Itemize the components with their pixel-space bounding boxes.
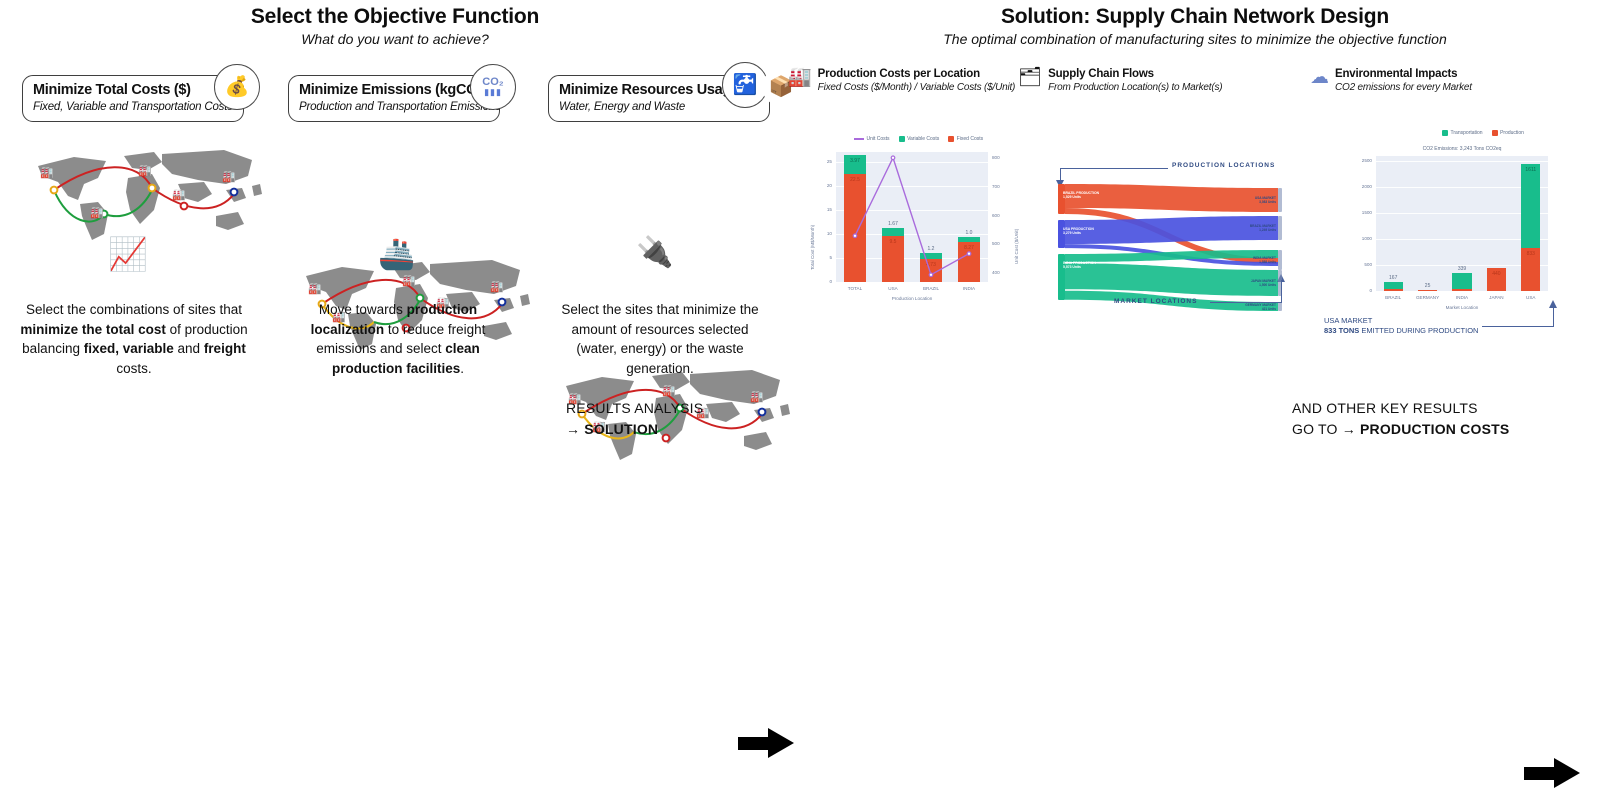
- bar-transportation[interactable]: [1521, 164, 1540, 248]
- bar-label-production: 833: [1521, 251, 1540, 257]
- objective-pill-1[interactable]: Minimize Total Costs ($) Fixed, Variable…: [22, 75, 244, 122]
- results-analysis-callout: RESULTS ANALYSIS → SOLUTION: [566, 398, 703, 440]
- cargo-ship-glyph: 🚢: [378, 238, 415, 271]
- callout-right-line2: GO TO → PRODUCTION COSTS: [1292, 419, 1509, 440]
- sankey-target-label: USA MARKET3,083 Units: [1236, 196, 1276, 204]
- panel-title-3: Environmental Impacts: [1335, 68, 1472, 82]
- world-map-costs: 🏭 🏭 🏭 🏭 🏭: [28, 140, 266, 250]
- chart-legend-3[interactable]: TransportationProduction: [1442, 130, 1524, 136]
- slide-canvas: Select the Objective Function What do yo…: [0, 0, 1600, 450]
- arrow-right-icon-right: [1524, 758, 1580, 788]
- bar-label-transportation: 25: [1418, 283, 1437, 289]
- sankey-leader-line: [1060, 168, 1168, 169]
- y-tick-label-1: 20: [816, 183, 832, 188]
- sankey-leader-line-2: [1281, 280, 1282, 303]
- co2-annotation: USA MARKET833 TONS EMITTED DURING PRODUC…: [1324, 316, 1478, 336]
- panel-header-production-costs: 🏭 Production Costs per Location Fixed Co…: [788, 68, 1015, 94]
- y-tick-label-3: 0: [1354, 288, 1372, 293]
- objective-title-1: Minimize Total Costs ($): [33, 82, 233, 99]
- y2-axis-label-1: Unit Cost ($/Unit): [1014, 229, 1019, 264]
- sankey-target-label: GERMANY MARKET421 Units: [1236, 303, 1276, 311]
- factory-icon-map2-a: 🏭: [308, 284, 322, 295]
- left-section-subtitle: What do you want to achieve?: [0, 31, 790, 47]
- sankey-src-units: 1,529 Units: [1063, 195, 1099, 199]
- bar-label-transportation: 339: [1452, 266, 1471, 272]
- money-boxes-icon: 💰: [214, 64, 260, 110]
- supply-chain-flows-sankey[interactable]: BRAZIL PRODUCTION1,529 UnitsUSA PRODUCTI…: [1020, 150, 1310, 330]
- bar-production[interactable]: [1418, 290, 1437, 291]
- objective-card-total-costs[interactable]: Minimize Total Costs ($) Fixed, Variable…: [22, 75, 244, 122]
- supply-chain-flows-icon: 🗂: [1018, 68, 1042, 87]
- y-axis-label-1: Total Cost (M$/Month): [810, 225, 815, 270]
- para-1-rich: Select the combinations of sites that mi…: [20, 302, 247, 376]
- factory-icon-map1-b: 🏭: [138, 166, 152, 177]
- y-tick-label-1: 5: [816, 255, 832, 260]
- legend-swatch: [899, 136, 905, 142]
- y-tick-label-1: 15: [816, 207, 832, 212]
- panel-subtitle-1: Fixed Costs ($/Month) / Variable Costs (…: [818, 82, 1016, 94]
- y2-tick-label-1: 600: [992, 213, 1000, 218]
- other-key-results-callout: AND OTHER KEY RESULTS GO TO → PRODUCTION…: [1292, 398, 1509, 440]
- sankey-source-label: USA PRODUCTION3,279 Units: [1063, 227, 1094, 236]
- objective-pill-2[interactable]: Minimize Emissions (kgCO2eq) Production …: [288, 75, 500, 122]
- arrow-head-2: [1554, 758, 1580, 788]
- legend-label: Fixed Costs: [957, 136, 983, 142]
- co2-annotation-value: 833 TONS: [1324, 326, 1359, 335]
- bar-label-variable: 1.2: [920, 246, 941, 252]
- factory-icon-map1-a: 🏭: [40, 168, 54, 179]
- factory-icon-map1-c: 🏭: [90, 208, 104, 219]
- sankey-target-node[interactable]: [1278, 216, 1282, 240]
- bar-label-fixed: 22.5: [844, 177, 865, 183]
- legend-label: Transportation: [1451, 130, 1483, 136]
- gridline-3: [1376, 291, 1548, 292]
- x-tick-label-1: TOTAL: [836, 286, 873, 291]
- bar-variable-costs[interactable]: [958, 237, 979, 242]
- money-boxes-glyph: 💰: [225, 77, 250, 97]
- legend-label: Production: [1500, 130, 1524, 136]
- sankey-bottom-label: MARKET LOCATIONS: [1114, 298, 1197, 305]
- panel-header-environmental-impacts: ☁ Environmental Impacts CO2 emissions fo…: [1310, 68, 1472, 94]
- y-tick-label-3: 2000: [1354, 184, 1372, 189]
- para-2-rich: Move towards production localization to …: [311, 302, 486, 376]
- x-tick-label-1: INDIA: [950, 286, 987, 291]
- water-tap-glyph: 🚰: [733, 75, 758, 95]
- bar-label-transportation: 1611: [1521, 167, 1540, 173]
- callout-right-goto: GO TO →: [1292, 421, 1360, 437]
- cost-growth-chart-icon: 📈: [108, 238, 148, 270]
- sankey-source-label: BRAZIL PRODUCTION1,529 Units: [1063, 191, 1099, 200]
- bar-label-production: 440: [1487, 271, 1506, 277]
- factory-icon-map1-e: 🏭: [222, 172, 236, 183]
- right-section-subtitle: The optimal combination of manufacturing…: [800, 31, 1590, 47]
- cost-growth-glyph: 📈: [108, 236, 148, 272]
- panel-header-supply-chain-flows: 🗂 Supply Chain Flows From Production Loc…: [1018, 68, 1222, 94]
- sankey-tgt-units: 1,249 Units: [1236, 228, 1276, 232]
- sankey-leader-line-2: [1210, 302, 1282, 303]
- sankey-source-label: INDIA PRODUCTION5,573 Units: [1063, 261, 1096, 270]
- sankey-tgt-units: 3,083 Units: [1236, 200, 1276, 204]
- sankey-target-node[interactable]: [1278, 250, 1282, 270]
- panel-subtitle-3: CO2 emissions for every Market: [1335, 82, 1472, 94]
- legend-item[interactable]: Unit Costs: [854, 136, 890, 142]
- chart-legend-1[interactable]: Unit CostsVariable CostsFixed Costs: [854, 136, 983, 142]
- legend-swatch: [1442, 130, 1448, 136]
- co2-emissions-chart[interactable]: CO2 Emissions: 3,243 Tons CO2eq050010001…: [1320, 118, 1600, 348]
- cargo-ship-icon: 🚢: [378, 240, 415, 270]
- production-costs-icon: 🏭: [788, 68, 812, 87]
- y2-tick-label-1: 700: [992, 184, 1000, 189]
- bar-label-variable: 1.67: [882, 221, 903, 227]
- y2-tick-label-1: 400: [992, 270, 1000, 275]
- sankey-src-units: 3,279 Units: [1063, 231, 1094, 235]
- bar-transportation[interactable]: [1452, 273, 1471, 289]
- bar-label-variable: 3.97: [844, 158, 865, 164]
- bar-variable-costs[interactable]: [882, 228, 903, 236]
- legend-swatch: [1492, 130, 1498, 136]
- x-tick-label-1: USA: [874, 286, 911, 291]
- left-section-title: Select the Objective Function: [0, 5, 790, 29]
- objective-paragraph-1: Select the combinations of sites that mi…: [14, 300, 254, 378]
- para-3-rich: Select the sites that minimize the amoun…: [561, 302, 758, 376]
- panel-title-2: Supply Chain Flows: [1048, 68, 1222, 82]
- y-tick-label-3: 2500: [1354, 158, 1372, 163]
- sankey-tgt-units: 421 Units: [1236, 307, 1276, 311]
- objective-subtitle-2: Production and Transportation Emissions: [299, 101, 489, 115]
- arrow-head-1: [768, 728, 794, 758]
- legend-swatch: [948, 136, 954, 142]
- co2-leader-line: [1482, 326, 1554, 327]
- bar-label-fixed: 8.27: [958, 245, 979, 251]
- arrow-right-icon-left: [738, 728, 794, 758]
- factory-icon-map3-b: 🏭: [662, 386, 676, 397]
- objective-title-2: Minimize Emissions (kgCO2eq): [299, 82, 489, 99]
- x-tick-label-3: BRAZIL: [1376, 295, 1411, 300]
- objective-subtitle-1: Fixed, Variable and Transportation Costs: [33, 101, 233, 115]
- bar-label-fixed: 4.73: [920, 262, 941, 268]
- bar-label-variable: 1.0: [958, 230, 979, 236]
- objective-paragraph-2: Move towards production localization to …: [288, 300, 508, 378]
- production-costs-chart[interactable]: 051015202540050060070080022.53.97TOTAL9.…: [800, 130, 1030, 320]
- legend-label: Variable Costs: [907, 136, 939, 142]
- bar-production[interactable]: [1452, 289, 1471, 291]
- callout-right-line1: AND OTHER KEY RESULTS: [1292, 398, 1509, 419]
- sankey-tgt-units: 1,500 Units: [1236, 283, 1276, 287]
- arrow-shaft-2: [1524, 767, 1558, 780]
- bar-label-transportation: 167: [1384, 275, 1403, 281]
- x-tick-label-3: INDIA: [1444, 295, 1479, 300]
- x-tick-label-3: JAPAN: [1479, 295, 1514, 300]
- sankey-target-node[interactable]: [1278, 188, 1282, 212]
- co2-drops-icon: ▮▮▮: [484, 88, 502, 97]
- arrow-shaft-1: [738, 737, 772, 750]
- bar-transportation[interactable]: [1384, 282, 1403, 289]
- right-section-title: Solution: Supply Chain Network Design: [800, 5, 1590, 29]
- panel-title-1: Production Costs per Location: [818, 68, 1016, 82]
- factory-icon-map2-b: 🏭: [402, 276, 416, 287]
- bar-variable-costs[interactable]: [920, 253, 941, 259]
- energy-plug-glyph: 🔌: [636, 236, 673, 269]
- co2-chart-title: CO2 Emissions: 3,243 Tons CO2eq: [1376, 146, 1548, 152]
- y-tick-label-1: 10: [816, 231, 832, 236]
- environment-co2-icon: ☁: [1310, 68, 1329, 87]
- world-map-svg-1: [28, 140, 266, 250]
- sankey-leader-line: [1060, 168, 1061, 182]
- sankey-src-units: 5,573 Units: [1063, 265, 1096, 269]
- callout-left-line2: → SOLUTION: [566, 419, 703, 440]
- legend-item[interactable]: Fixed Costs: [948, 136, 983, 142]
- legend-label: Unit Costs: [867, 136, 890, 142]
- sankey-tgt-units: 1,588 Units: [1236, 260, 1276, 264]
- bar-fixed-costs[interactable]: [844, 174, 865, 282]
- callout-right-target: PRODUCTION COSTS: [1360, 421, 1509, 437]
- y-tick-label-3: 1000: [1354, 236, 1372, 241]
- co2-cloud-icon: CO₂ ▮▮▮: [470, 64, 516, 110]
- callout-left-line1: RESULTS ANALYSIS: [566, 398, 703, 419]
- sankey-target-label: INDIA MARKET1,588 Units: [1236, 256, 1276, 264]
- y-tick-label-3: 500: [1354, 262, 1372, 267]
- sankey-target-node[interactable]: [1278, 302, 1282, 311]
- x-axis-label-1: Production Location: [836, 296, 988, 301]
- y-tick-label-3: 1500: [1354, 210, 1372, 215]
- bar-production[interactable]: [1384, 289, 1403, 291]
- factory-icon-map1-d: 🏭: [172, 190, 186, 201]
- legend-swatch: [854, 138, 864, 140]
- factory-icon-map3-e: 🏭: [750, 392, 764, 403]
- legend-item[interactable]: Production: [1492, 130, 1524, 136]
- y2-tick-label-1: 500: [992, 241, 1000, 246]
- objective-paragraph-3: Select the sites that minimize the amoun…: [550, 300, 770, 378]
- objective-subtitle-3: Water, Energy and Waste: [559, 101, 759, 115]
- x-tick-label-3: USA: [1513, 295, 1548, 300]
- co2-annotation-line2: 833 TONS EMITTED DURING PRODUCTION: [1324, 326, 1478, 336]
- x-tick-label-3: GERMANY: [1410, 295, 1445, 300]
- sankey-top-label: PRODUCTION LOCATIONS: [1172, 162, 1275, 169]
- gridline-1: [836, 282, 988, 283]
- objective-card-emissions[interactable]: Minimize Emissions (kgCO2eq) Production …: [288, 75, 500, 122]
- co2-leader-line: [1553, 306, 1554, 327]
- panel-subtitle-2: From Production Location(s) to Market(s): [1048, 82, 1222, 94]
- y2-tick-label-1: 800: [992, 155, 1000, 160]
- y-tick-label-1: 0: [816, 279, 832, 284]
- x-tick-label-1: BRAZIL: [912, 286, 949, 291]
- co2-annotation-line1: USA MARKET: [1324, 316, 1478, 326]
- y-tick-label-1: 25: [816, 159, 832, 164]
- legend-item[interactable]: Transportation: [1442, 130, 1483, 136]
- energy-plug-icon: 🔌: [636, 238, 673, 268]
- factory-icon-map2-e: 🏭: [490, 282, 504, 293]
- sankey-target-label: JAPAN MARKET1,500 Units: [1236, 279, 1276, 287]
- legend-item[interactable]: Variable Costs: [899, 136, 940, 142]
- bar-label-fixed: 9.5: [882, 239, 903, 245]
- sankey-target-label: BRAZIL MARKET1,249 Units: [1236, 224, 1276, 232]
- gridline-3: [1376, 161, 1548, 162]
- x-axis-label-3: Market Location: [1376, 305, 1548, 310]
